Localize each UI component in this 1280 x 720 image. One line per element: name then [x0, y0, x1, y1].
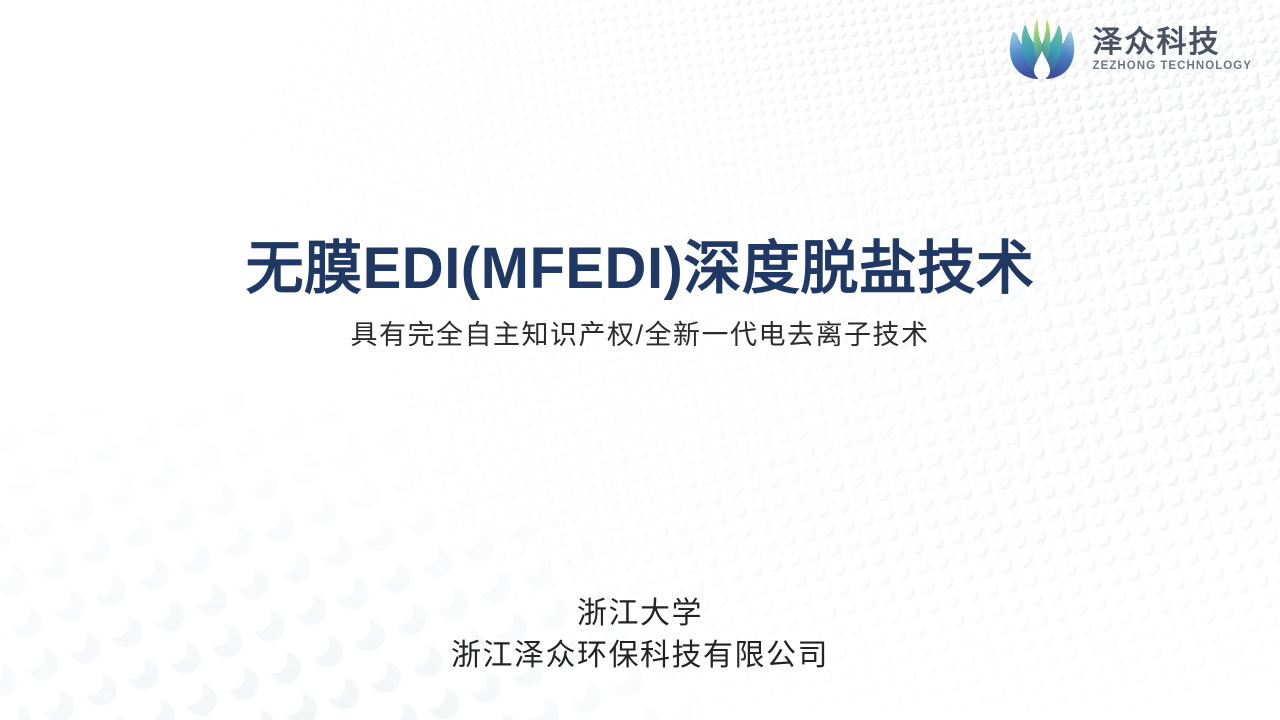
- organization-line-university: 浙江大学: [0, 593, 1280, 636]
- logo-wordmark: 泽众科技 ZEZHONG TECHNOLOGY: [1093, 28, 1252, 73]
- organization-line-company: 浙江泽众环保科技有限公司: [0, 635, 1280, 678]
- lotus-water-drop-icon: [1005, 18, 1079, 82]
- slide-title: 无膜EDI(MFEDI)深度脱盐技术: [0, 238, 1280, 301]
- title-slide: 泽众科技 ZEZHONG TECHNOLOGY 无膜EDI(MFEDI)深度脱盐…: [0, 0, 1280, 720]
- logo-company-name-en: ZEZHONG TECHNOLOGY: [1093, 61, 1252, 73]
- slide-subtitle: 具有完全自主知识产权/全新一代电去离子技术: [0, 319, 1280, 351]
- logo-company-name-cn: 泽众科技: [1093, 28, 1252, 58]
- company-logo: 泽众科技 ZEZHONG TECHNOLOGY: [1005, 18, 1252, 82]
- headline-block: 无膜EDI(MFEDI)深度脱盐技术 具有完全自主知识产权/全新一代电去离子技术: [0, 238, 1280, 351]
- organization-block: 浙江大学 浙江泽众环保科技有限公司: [0, 593, 1280, 678]
